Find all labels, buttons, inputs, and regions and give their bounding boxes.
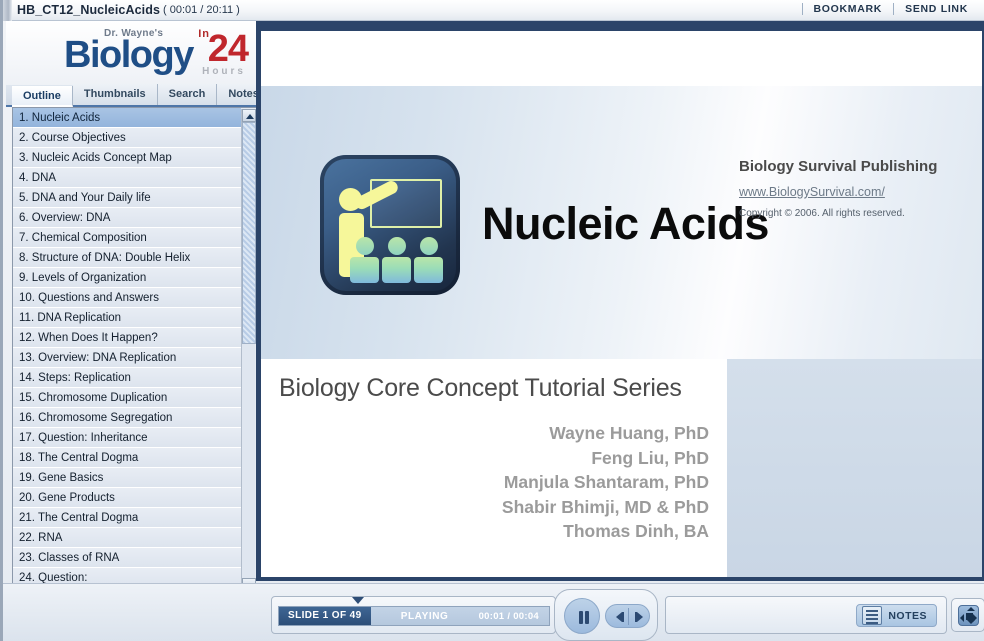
notes-button[interactable]: NOTES — [856, 604, 937, 627]
outline-item[interactable]: 20. Gene Products — [13, 488, 241, 508]
total-time-display: ( 00:01 / 20:11 ) — [163, 4, 240, 16]
slide-stage-frame: Nucleic Acids Biology Core Concept Tutor… — [256, 21, 984, 581]
logo-hours-text: Hours — [202, 66, 246, 77]
tab-thumbnails[interactable]: Thumbnails — [73, 84, 158, 105]
scrollbar-thumb[interactable] — [242, 122, 256, 344]
pause-button[interactable] — [564, 598, 600, 634]
header-actions: BOOKMARK SEND LINK — [802, 3, 980, 15]
progress-bar[interactable]: SLIDE 1 OF 49 PLAYING 00:01 / 00:04 — [278, 606, 550, 626]
logo-main-text: Biology — [64, 34, 193, 77]
scroll-up-button[interactable] — [242, 109, 256, 122]
chevron-up-icon — [246, 114, 254, 119]
step-divider — [628, 608, 629, 625]
playback-status: PLAYING — [371, 611, 479, 622]
outline-list[interactable]: 1. Nucleic Acids2. Course Objectives3. N… — [13, 108, 241, 590]
student-icon — [414, 237, 443, 283]
author-line: Thomas Dinh, BA — [279, 519, 709, 544]
notes-button-label: NOTES — [885, 610, 934, 622]
outline-item[interactable]: 19. Gene Basics — [13, 468, 241, 488]
sidebar-tabs: Outline Thumbnails Search Notes — [6, 85, 256, 107]
bookmark-button[interactable]: BOOKMARK — [803, 3, 894, 15]
notes-document-icon — [862, 606, 882, 625]
slide-series-subtitle: Biology Core Concept Tutorial Series — [279, 374, 682, 403]
slide-canvas[interactable]: Nucleic Acids Biology Core Concept Tutor… — [261, 26, 982, 577]
outline-item[interactable]: 1. Nucleic Acids — [13, 108, 241, 128]
publisher-url-link[interactable]: www.BiologySurvival.com/ — [739, 185, 885, 199]
outline-item[interactable]: 17. Question: Inheritance — [13, 428, 241, 448]
outline-item[interactable]: 7. Chemical Composition — [13, 228, 241, 248]
outline-item[interactable]: 5. DNA and Your Daily life — [13, 188, 241, 208]
outline-item[interactable]: 13. Overview: DNA Replication — [13, 348, 241, 368]
publisher-name: Biology Survival Publishing — [739, 158, 937, 175]
seek-panel: SLIDE 1 OF 49 PLAYING 00:01 / 00:04 — [271, 596, 556, 634]
slide-publisher-column — [727, 359, 982, 577]
slide-author-list: Wayne Huang, PhDFeng Liu, PhDManjula Sha… — [279, 421, 709, 544]
outline-item[interactable]: 15. Chromosome Duplication — [13, 388, 241, 408]
tab-outline[interactable]: Outline — [12, 86, 73, 107]
author-line: Feng Liu, PhD — [279, 446, 709, 471]
slide-header-space — [261, 31, 982, 86]
step-buttons[interactable] — [605, 604, 650, 628]
outline-item[interactable]: 23. Classes of RNA — [13, 548, 241, 568]
outline-item[interactable]: 4. DNA — [13, 168, 241, 188]
slide-title: Nucleic Acids — [482, 198, 952, 250]
media-player-window: HB_CT12_NucleicAcids ( 00:01 / 20:11 ) B… — [0, 0, 984, 641]
author-line: Manjula Shantaram, PhD — [279, 470, 709, 495]
outline-list-frame: 1. Nucleic Acids2. Course Objectives3. N… — [12, 107, 256, 591]
tab-search[interactable]: Search — [158, 84, 218, 105]
brand-logo: Dr. Wayne's Biology In 24 Hours — [6, 21, 256, 86]
slide-timecode: 00:01 / 00:04 — [479, 611, 549, 622]
title-bar: HB_CT12_NucleicAcids ( 00:01 / 20:11 ) B… — [3, 0, 984, 21]
tutorial-teacher-icon — [320, 155, 460, 295]
window-left-gutter — [3, 0, 12, 21]
copyright-text: Copyright © 2006. All rights reserved. — [739, 208, 905, 219]
outline-item[interactable]: 18. The Central Dogma — [13, 448, 241, 468]
slide-counter-badge: SLIDE 1 OF 49 — [279, 607, 371, 625]
student-icon — [382, 237, 411, 283]
left-sidebar: Dr. Wayne's Biology In 24 Hours Outline … — [6, 21, 256, 621]
fullscreen-button[interactable] — [951, 598, 984, 632]
outline-item[interactable]: 6. Overview: DNA — [13, 208, 241, 228]
author-line: Wayne Huang, PhD — [279, 421, 709, 446]
outline-item[interactable]: 22. RNA — [13, 528, 241, 548]
outline-item[interactable]: 16. Chromosome Segregation — [13, 408, 241, 428]
outline-item[interactable]: 12. When Does It Happen? — [13, 328, 241, 348]
transport-panel — [554, 589, 658, 641]
outline-item[interactable]: 8. Structure of DNA: Double Helix — [13, 248, 241, 268]
outline-item[interactable]: 3. Nucleic Acids Concept Map — [13, 148, 241, 168]
file-title: HB_CT12_NucleicAcids — [17, 3, 160, 17]
outline-item[interactable]: 10. Questions and Answers — [13, 288, 241, 308]
right-toolbar-panel: NOTES — [665, 596, 947, 634]
send-link-button[interactable]: SEND LINK — [894, 3, 979, 15]
outline-item[interactable]: 11. DNA Replication — [13, 308, 241, 328]
logo-number-text: 24 — [208, 30, 248, 68]
outline-item[interactable]: 14. Steps: Replication — [13, 368, 241, 388]
outline-scrollbar[interactable] — [241, 109, 255, 591]
outline-item[interactable]: 2. Course Objectives — [13, 128, 241, 148]
fullscreen-expand-icon — [958, 605, 979, 626]
outline-item[interactable]: 21. The Central Dogma — [13, 508, 241, 528]
pause-icon — [579, 611, 583, 624]
outline-item[interactable]: 9. Levels of Organization — [13, 268, 241, 288]
student-icon — [350, 237, 379, 283]
playhead-marker-icon — [352, 597, 364, 604]
author-line: Shabir Bhimji, MD & PhD — [279, 495, 709, 520]
pause-icon — [585, 611, 589, 624]
